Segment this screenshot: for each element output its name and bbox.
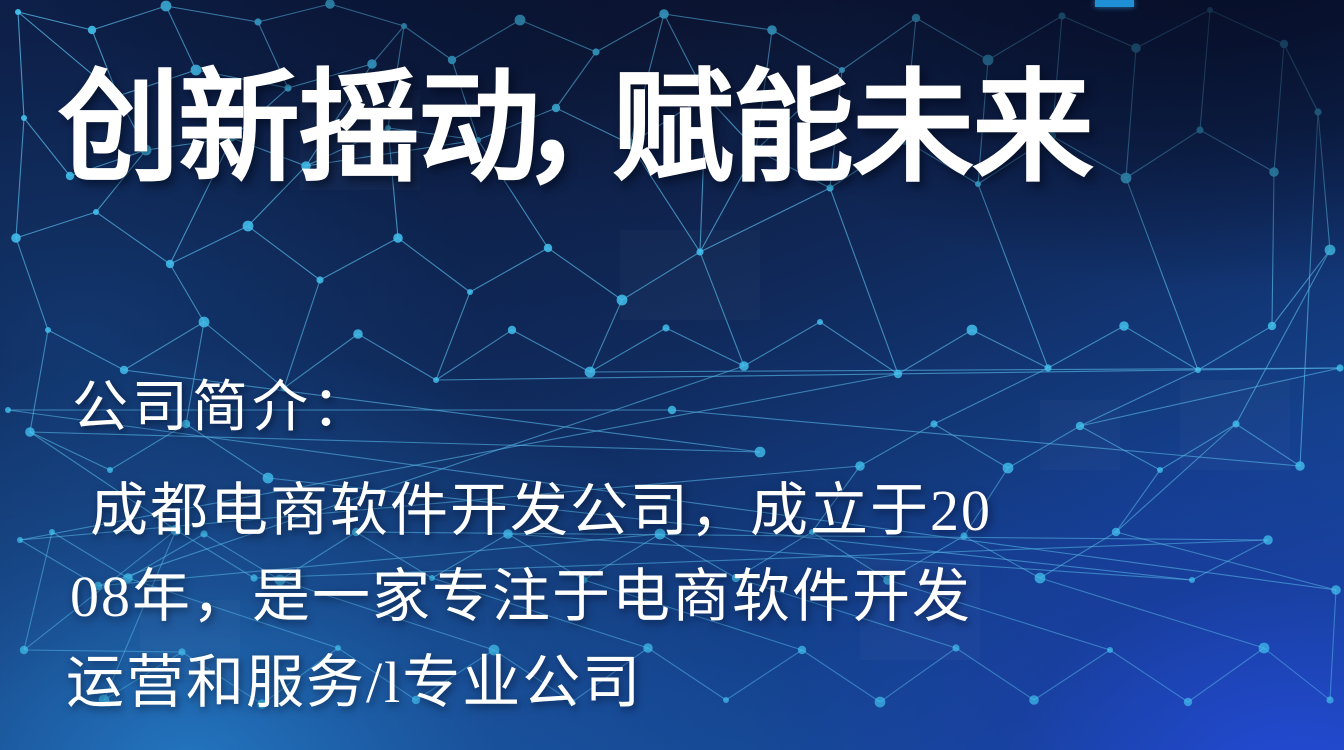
mesh-edge <box>820 322 898 374</box>
mesh-edge <box>1272 250 1330 326</box>
mesh-node <box>1331 585 1341 595</box>
mesh-node <box>21 115 27 121</box>
mesh-node <box>1207 7 1213 13</box>
mesh-edge <box>916 18 988 60</box>
mesh-node <box>316 276 323 283</box>
page-title: 创新摇动，赋能未来 <box>58 66 1092 190</box>
mesh-edge <box>830 188 898 374</box>
mesh-edge <box>166 6 258 22</box>
mesh-edge <box>1272 172 1274 326</box>
mesh-edge <box>436 368 1340 380</box>
mesh-edge <box>18 12 24 118</box>
mesh-node <box>254 18 261 25</box>
mesh-edge <box>1160 424 1236 470</box>
mesh-node <box>1325 245 1336 256</box>
mesh-node <box>1232 420 1239 427</box>
mesh-node <box>508 326 516 334</box>
mesh-node <box>1336 364 1343 371</box>
mesh-edge <box>700 188 830 252</box>
mesh-edge <box>1198 326 1272 370</box>
mesh-edge <box>1124 326 1198 370</box>
mesh-node <box>662 324 669 331</box>
mesh-node <box>467 289 473 295</box>
mesh-edge <box>436 292 470 380</box>
section-heading-company-intro: 公司简介： <box>72 362 372 443</box>
mesh-edge <box>898 330 972 374</box>
mesh-edge <box>590 328 666 372</box>
mesh-edge <box>1330 590 1336 700</box>
mesh-edge <box>1210 10 1284 44</box>
mesh-node <box>25 427 35 437</box>
mesh-node <box>17 537 23 543</box>
mesh-node <box>585 367 596 378</box>
mesh-edge <box>330 4 404 26</box>
mesh-node <box>393 233 403 243</box>
mesh-edge <box>622 252 700 300</box>
mesh-edge <box>548 248 622 300</box>
mesh-edge <box>988 16 1062 60</box>
mesh-node <box>199 317 210 328</box>
mesh-node <box>20 646 28 654</box>
mesh-edge <box>258 4 330 22</box>
mesh-edge <box>16 238 48 330</box>
headline-part-1: 创新摇动 <box>58 60 538 196</box>
mesh-node <box>515 15 526 26</box>
headline-part-2: 赋能未来 <box>612 60 1092 196</box>
mesh-node <box>49 529 55 535</box>
mesh-edge <box>1126 178 1198 370</box>
mesh-node <box>1196 126 1203 133</box>
mesh-node <box>1195 367 1201 373</box>
mesh-edge <box>1136 10 1210 48</box>
mesh-edge <box>24 532 52 650</box>
mesh-edge <box>92 6 166 30</box>
mesh-edge <box>30 330 48 432</box>
mesh-node <box>161 1 172 12</box>
mesh-edge <box>320 238 398 280</box>
mesh-node <box>1326 696 1333 703</box>
mesh-node <box>767 25 777 35</box>
mesh-edge <box>1300 112 1318 466</box>
mesh-edge <box>1200 10 1210 130</box>
mesh-edge <box>1284 44 1318 112</box>
mesh-edge <box>170 264 204 322</box>
mesh-node <box>1058 12 1065 19</box>
mesh-node <box>45 327 51 333</box>
mesh-node <box>894 370 902 378</box>
mesh-node <box>1280 40 1288 48</box>
mesh-edge <box>664 14 772 30</box>
mesh-node <box>817 319 823 325</box>
mesh-node <box>912 14 920 22</box>
mesh-node <box>243 221 254 232</box>
mesh-edge <box>1236 424 1300 466</box>
body-line-2: 08年，是一家专注于电商软件开发 <box>60 554 1320 640</box>
accent-bar-top <box>1095 0 1134 7</box>
mesh-edge <box>1236 250 1330 424</box>
company-intro-paragraph: 成都电商软件开发公司，成立于20 08年，是一家专注于电商软件开发 运营和服务/… <box>60 468 1320 726</box>
mesh-node <box>544 244 552 252</box>
mesh-edge <box>436 330 512 380</box>
mesh-edge <box>520 20 596 52</box>
mesh-node <box>1076 422 1084 430</box>
poster-canvas: 创新摇动，赋能未来 公司简介： 成都电商软件开发公司，成立于20 08年，是一家… <box>0 0 1344 750</box>
mesh-node <box>15 9 21 15</box>
mesh-edge <box>1318 112 1330 250</box>
mesh-node <box>353 329 363 339</box>
mesh-edge <box>16 118 24 238</box>
mesh-edge <box>1274 44 1284 172</box>
mesh-edge <box>16 212 96 238</box>
mesh-edge <box>1062 16 1136 48</box>
mesh-edge <box>934 368 1048 424</box>
mesh-node <box>617 295 628 306</box>
mesh-node <box>1119 321 1129 331</box>
mesh-edge <box>590 300 622 372</box>
mesh-node <box>325 0 335 9</box>
mesh-edge <box>512 330 590 372</box>
mesh-node <box>1268 322 1276 330</box>
mesh-edge <box>1048 326 1124 368</box>
mesh-edge <box>248 226 320 280</box>
mesh-node <box>11 233 21 243</box>
mesh-node <box>1131 43 1141 53</box>
body-line-3: 运营和服务/l专业公司 <box>60 640 1320 726</box>
mesh-node <box>592 48 599 55</box>
mesh-edge <box>972 330 1048 368</box>
mesh-edge <box>1008 426 1080 468</box>
mesh-node <box>433 377 439 383</box>
mesh-node <box>1269 167 1279 177</box>
mesh-node <box>5 407 11 413</box>
mesh-edge <box>672 410 1300 466</box>
mesh-node <box>930 420 937 427</box>
mesh-node <box>668 406 676 414</box>
mesh-edge <box>596 14 664 52</box>
mesh-node <box>739 361 749 371</box>
mesh-edge <box>934 424 1008 468</box>
mesh-edge <box>700 252 744 366</box>
mesh-node <box>166 260 174 268</box>
mesh-edge <box>666 328 744 366</box>
mesh-node <box>1044 364 1051 371</box>
mesh-node <box>659 9 669 19</box>
mesh-node <box>1121 173 1132 184</box>
mesh-edge <box>404 26 452 60</box>
mesh-edge <box>452 20 520 60</box>
mesh-edge <box>1126 48 1136 178</box>
body-line-1: 成都电商软件开发公司，成立于20 <box>60 468 1320 554</box>
mesh-node <box>93 209 99 215</box>
mesh-node <box>1314 108 1321 115</box>
mesh-edge <box>398 238 470 292</box>
mesh-node <box>88 26 96 34</box>
mesh-edge <box>744 322 820 366</box>
mesh-edge <box>1200 130 1274 172</box>
mesh-node <box>401 23 407 29</box>
mesh-edge <box>978 184 1048 368</box>
mesh-edge <box>96 212 170 264</box>
mesh-node <box>755 447 766 458</box>
mesh-node <box>967 325 978 336</box>
headline-comma: ， <box>522 60 626 196</box>
mesh-edge <box>470 248 548 292</box>
mesh-edge <box>1126 130 1200 178</box>
mesh-edge <box>1080 368 1340 426</box>
mesh-edge <box>1080 370 1198 426</box>
mesh-edge <box>170 226 248 264</box>
mesh-node <box>696 248 703 255</box>
